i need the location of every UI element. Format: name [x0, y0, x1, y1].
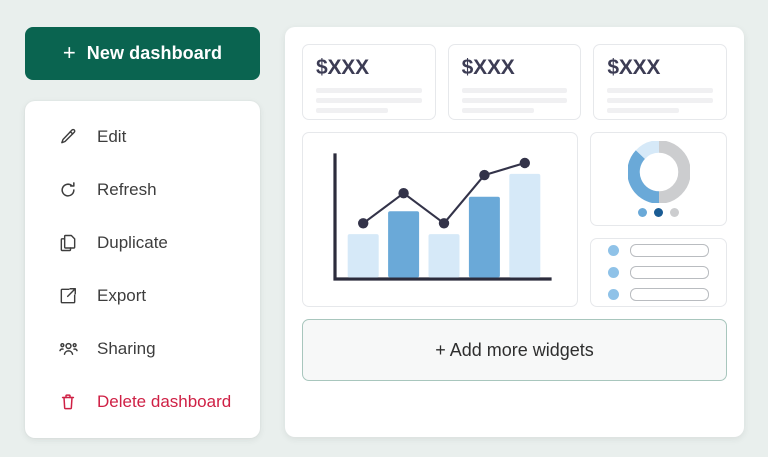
bullet-dot-icon — [608, 267, 619, 278]
stat-card[interactable]: $XXX — [302, 44, 436, 120]
stat-card[interactable]: $XXX — [448, 44, 582, 120]
chart-data-point — [520, 158, 530, 168]
skeleton-line — [462, 108, 534, 113]
progress-track — [630, 288, 709, 301]
dashboard-preview-panel: $XXX $XXX $XXX — [285, 27, 744, 437]
chart-data-point — [358, 218, 368, 228]
menu-item-label: Duplicate — [97, 233, 168, 253]
stat-cards-row: $XXX $XXX $XXX — [302, 44, 727, 120]
progress-track — [630, 244, 709, 257]
stat-value: $XXX — [316, 57, 422, 78]
menu-item-label: Delete dashboard — [97, 392, 231, 412]
donut-segment — [640, 147, 659, 155]
progress-row — [608, 244, 709, 257]
skeleton-line — [316, 88, 422, 93]
menu-item-export[interactable]: Export — [25, 277, 260, 314]
new-dashboard-button[interactable]: + New dashboard — [25, 27, 260, 80]
skeleton-line — [607, 98, 713, 103]
progress-track — [630, 266, 709, 279]
menu-item-delete-dashboard[interactable]: Delete dashboard — [25, 383, 260, 420]
legend-dot — [670, 208, 679, 217]
menu-item-label: Edit — [97, 127, 126, 147]
stat-card[interactable]: $XXX — [593, 44, 727, 120]
action-menu: Edit Refresh Duplicate — [25, 101, 260, 438]
skeleton-line — [607, 88, 713, 93]
skeleton-line — [607, 108, 679, 113]
add-more-widgets-button[interactable]: + Add more widgets — [302, 319, 727, 381]
progress-bars-widget[interactable] — [590, 238, 727, 307]
chart-data-point — [479, 170, 489, 180]
stat-value: $XXX — [607, 57, 713, 78]
chart-bar — [388, 211, 419, 277]
trash-icon — [57, 391, 79, 413]
chart-bar — [348, 234, 379, 277]
left-column: + New dashboard Edit Refresh — [25, 27, 260, 438]
chart-bar — [469, 197, 500, 278]
refresh-icon — [57, 179, 79, 201]
combo-chart-canvas — [303, 133, 579, 308]
menu-item-label: Refresh — [97, 180, 157, 200]
menu-item-duplicate[interactable]: Duplicate — [25, 224, 260, 261]
chart-bar — [509, 174, 540, 278]
stat-value: $XXX — [462, 57, 568, 78]
chart-data-point — [398, 188, 408, 198]
menu-item-label: Sharing — [97, 339, 156, 359]
chart-data-point — [439, 218, 449, 228]
skeleton-line — [316, 98, 422, 103]
donut-segment — [633, 155, 659, 198]
external-link-icon — [57, 285, 79, 307]
chart-bar — [429, 234, 460, 277]
skeleton-line — [462, 98, 568, 103]
donut-chart-widget[interactable] — [590, 132, 727, 226]
chart-trend-line — [363, 163, 525, 223]
widgets-row — [302, 132, 727, 307]
legend-dot — [638, 208, 647, 217]
skeleton-line — [462, 88, 568, 93]
donut-chart-canvas — [628, 141, 690, 203]
pencil-icon — [57, 126, 79, 148]
menu-item-refresh[interactable]: Refresh — [25, 171, 260, 208]
menu-item-edit[interactable]: Edit — [25, 118, 260, 155]
right-widgets-column — [590, 132, 727, 307]
progress-row — [608, 288, 709, 301]
plus-icon: + — [63, 42, 76, 64]
menu-item-label: Export — [97, 286, 146, 306]
copy-icon — [57, 232, 79, 254]
new-dashboard-label: New dashboard — [87, 43, 222, 64]
legend-dot — [654, 208, 663, 217]
combo-chart-widget[interactable] — [302, 132, 578, 307]
progress-row — [608, 266, 709, 279]
bullet-dot-icon — [608, 245, 619, 256]
people-icon — [57, 338, 79, 360]
donut-legend — [638, 208, 679, 217]
menu-item-sharing[interactable]: Sharing — [25, 330, 260, 367]
donut-segment — [659, 147, 685, 198]
skeleton-line — [316, 108, 388, 113]
bullet-dot-icon — [608, 289, 619, 300]
